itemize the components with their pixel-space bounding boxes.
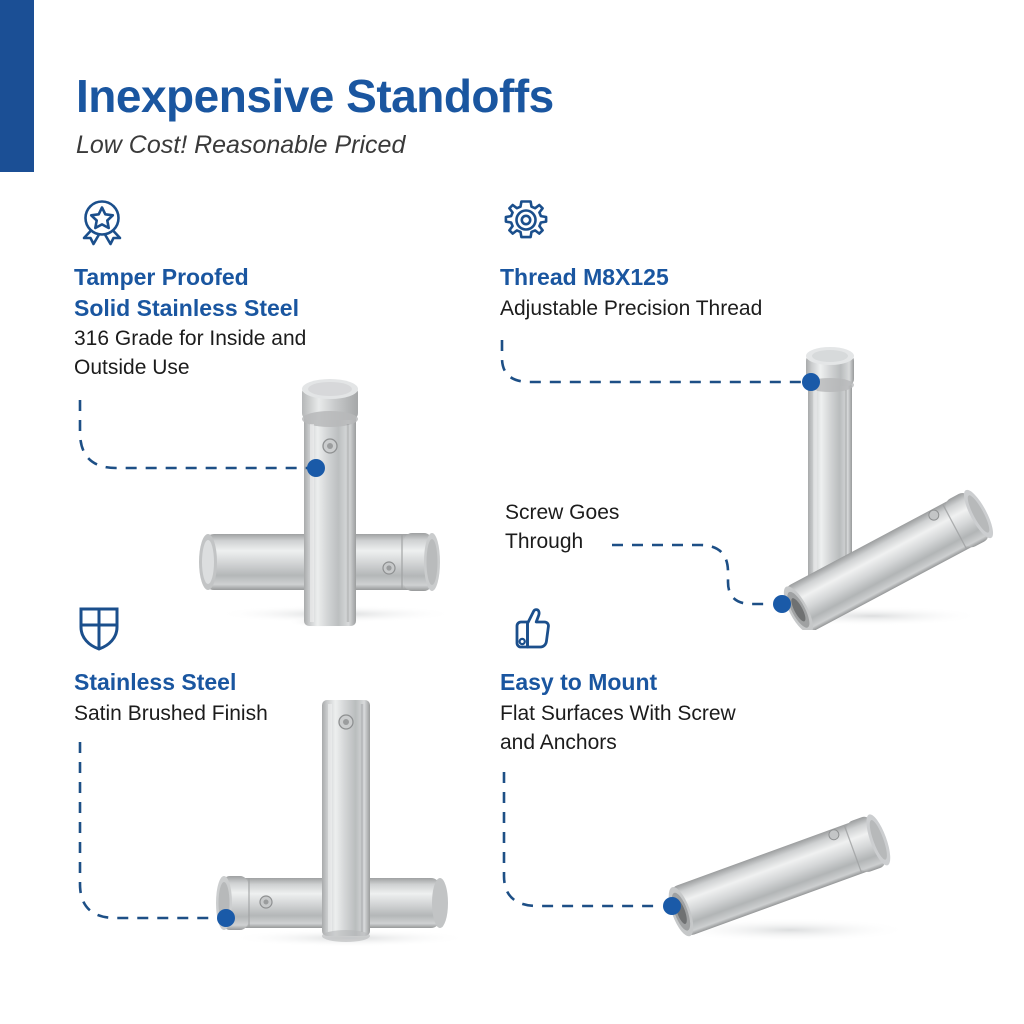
feature-thread-m8x125: Thread M8X125 Adjustable Precision Threa…	[500, 198, 860, 324]
feature-stainless-steel: Stainless Steel Satin Brushed Finish	[74, 603, 434, 729]
thumbs-up-icon	[500, 603, 860, 653]
award-star-icon	[74, 198, 434, 248]
feature-description: Satin Brushed Finish	[74, 700, 434, 729]
product-image-standoff-group-1	[196, 378, 464, 628]
page-subtitle: Low Cost! Reasonable Priced	[76, 130, 836, 160]
feature-easy-to-mount: Easy to Mount Flat Surfaces With Screw a…	[500, 603, 860, 758]
shield-icon	[74, 603, 434, 653]
feature-heading: Easy to Mount	[500, 667, 860, 698]
feature-heading: Tamper Proofed Solid Stainless Steel	[74, 262, 434, 323]
callout-screw-goes-through: Screw Goes Through	[505, 499, 725, 557]
product-image-standoff-group-2	[752, 330, 1024, 630]
feature-description: 316 Grade for Inside and Outside Use	[74, 325, 434, 383]
product-image-standoff-group-3	[200, 700, 470, 950]
product-image-standoff-group-4	[640, 780, 940, 960]
infographic-canvas: Inexpensive Standoffs Low Cost! Reasonab…	[0, 0, 1024, 1024]
feature-description: Adjustable Precision Thread	[500, 295, 860, 324]
feature-description: Flat Surfaces With Screw and Anchors	[500, 700, 860, 758]
left-accent-bar	[0, 0, 34, 172]
header: Inexpensive Standoffs Low Cost! Reasonab…	[76, 72, 836, 160]
gear-icon	[500, 198, 860, 248]
feature-heading: Stainless Steel	[74, 667, 434, 698]
feature-heading: Thread M8X125	[500, 262, 860, 293]
feature-tamper-proofed: Tamper Proofed Solid Stainless Steel 316…	[74, 198, 434, 383]
page-title: Inexpensive Standoffs	[76, 72, 836, 122]
